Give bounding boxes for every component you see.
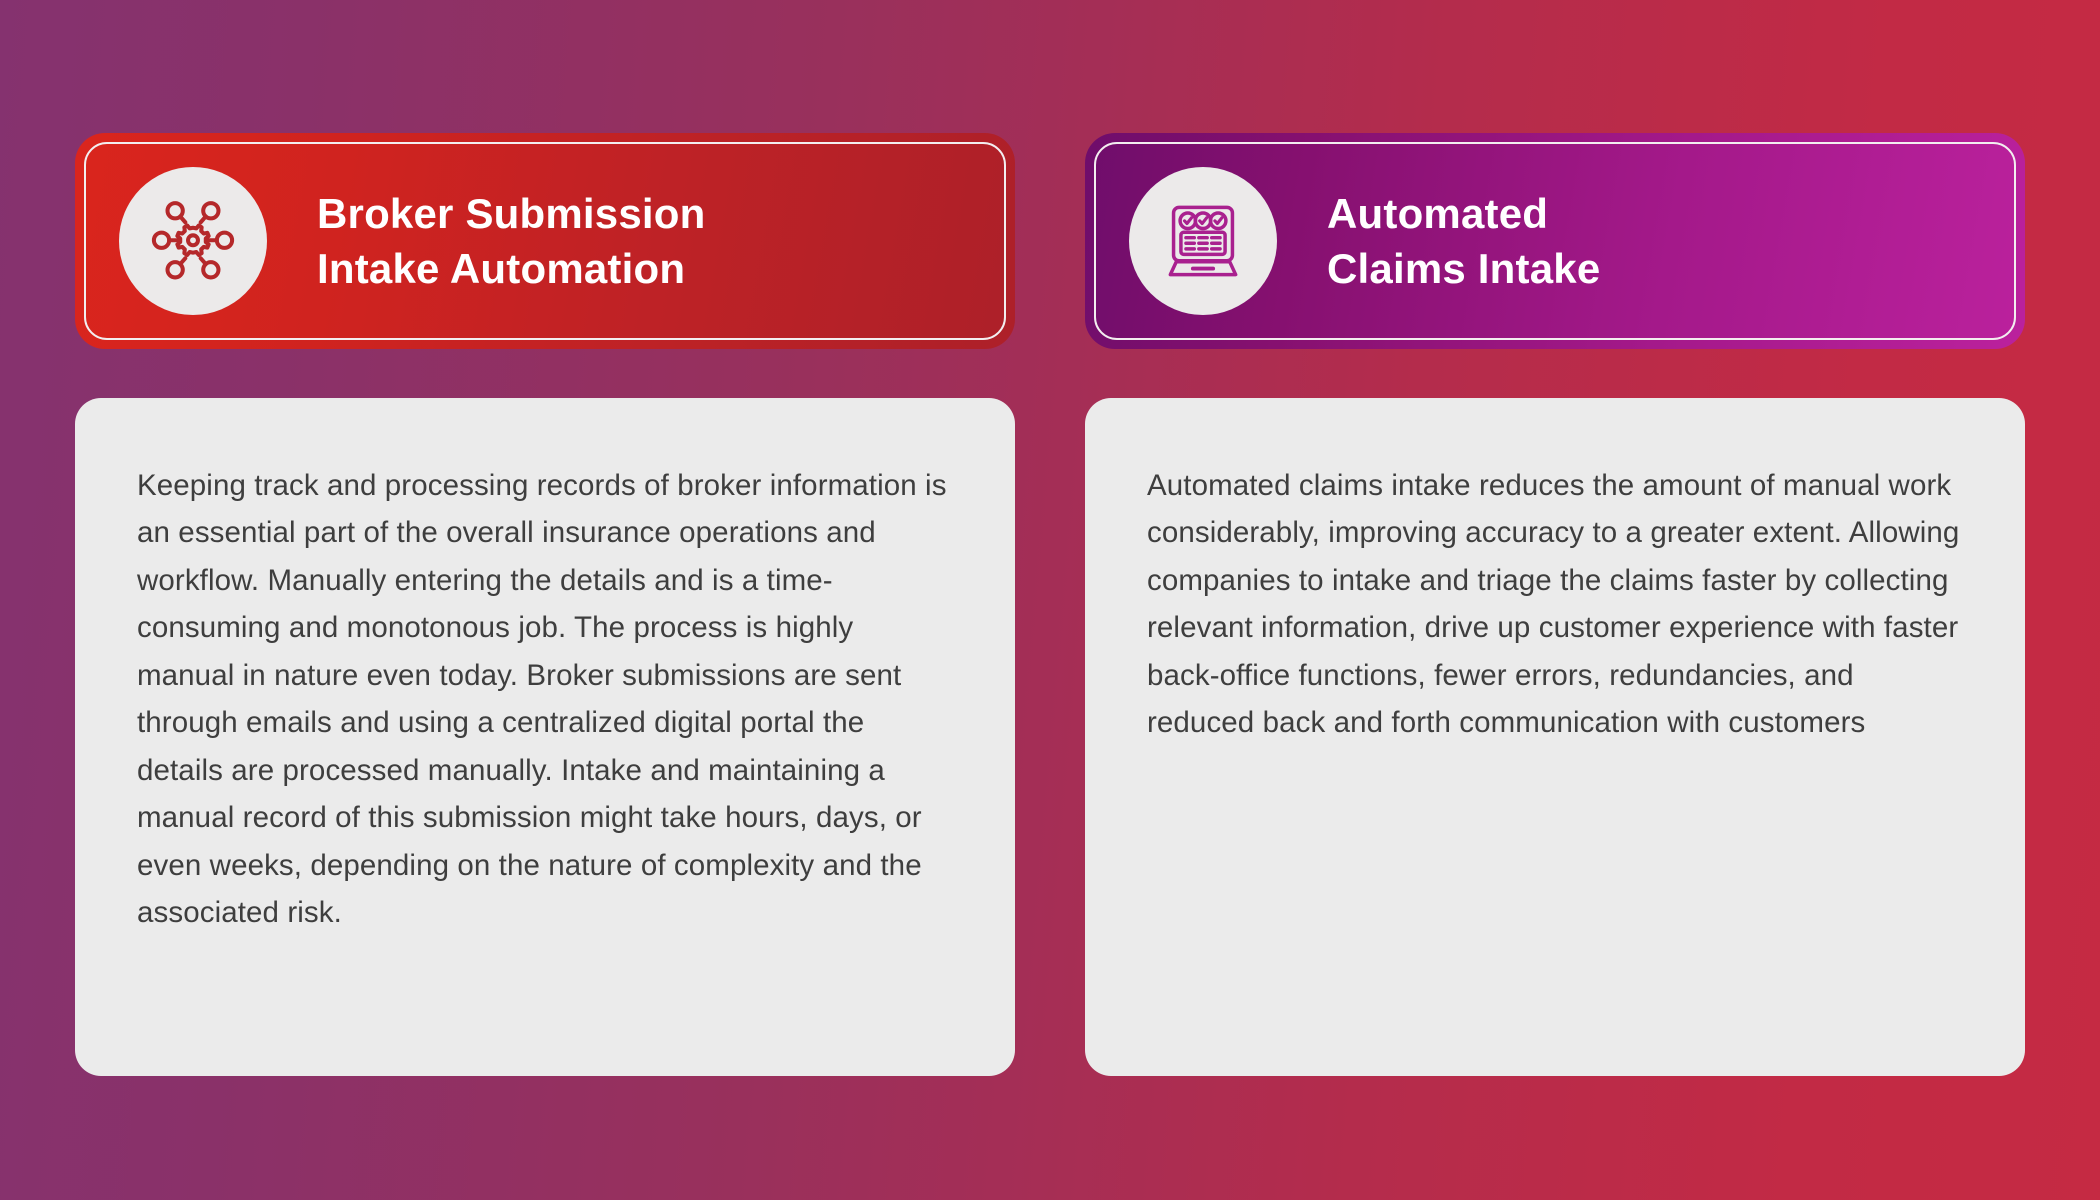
card-body-text-broker: Keeping track and processing records of …: [137, 462, 953, 937]
card-body-text-claims: Automated claims intake reduces the amou…: [1147, 462, 1963, 747]
card-header-broker[interactable]: Broker Submission Intake Automation: [75, 133, 1015, 349]
laptop-checklist-icon: [1157, 195, 1249, 287]
card-broker-submission-intake-automation: Broker Submission Intake Automation Keep…: [75, 133, 1015, 1076]
card-body-claims: Automated claims intake reduces the amou…: [1085, 398, 2025, 1076]
card-body-broker: Keeping track and processing records of …: [75, 398, 1015, 1076]
slide-canvas: Broker Submission Intake Automation Keep…: [0, 0, 2100, 1200]
card-title-broker: Broker Submission Intake Automation: [317, 186, 706, 297]
card-title-claims: Automated Claims Intake: [1327, 186, 1600, 297]
network-gear-icon: [147, 195, 239, 287]
icon-disc-broker: [119, 167, 267, 315]
card-automated-claims-intake: Automated Claims Intake Automated claims…: [1085, 133, 2025, 1076]
card-header-claims[interactable]: Automated Claims Intake: [1085, 133, 2025, 349]
icon-disc-claims: [1129, 167, 1277, 315]
